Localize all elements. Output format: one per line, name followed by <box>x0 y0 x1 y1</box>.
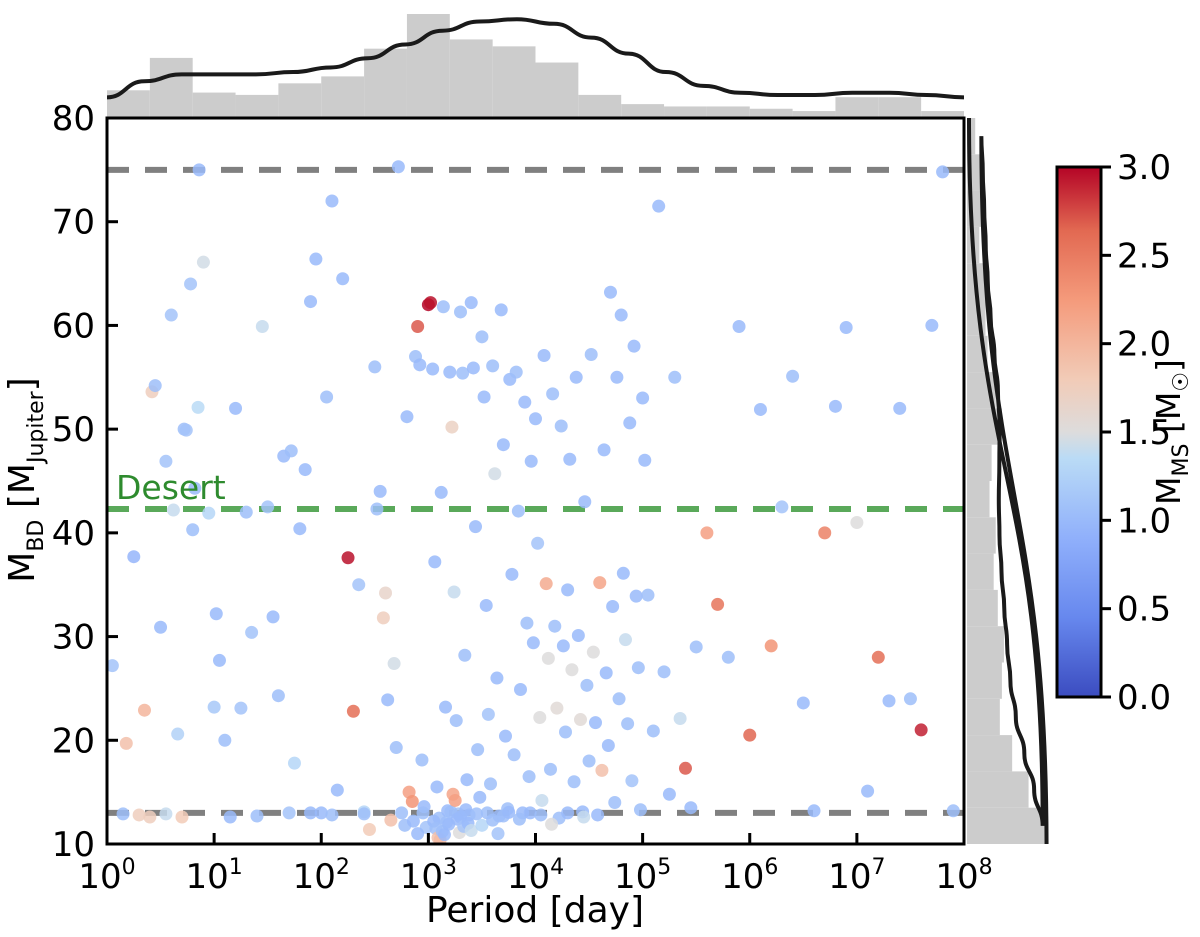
scatter-point <box>514 683 527 696</box>
y-tick-label: 50 <box>52 410 95 450</box>
colorbar-label: MMS [M☉] <box>1149 359 1194 505</box>
scatter-point <box>936 165 949 178</box>
top-hist-bars <box>107 14 964 118</box>
scatter-point <box>508 748 521 761</box>
scatter-point <box>245 626 258 639</box>
scatter-point <box>379 587 392 600</box>
scatter-point <box>377 611 390 624</box>
top-marginal-histogram <box>107 14 964 118</box>
scatter-point <box>722 651 735 664</box>
scatter-point <box>630 590 643 603</box>
right-hist-bar <box>967 663 1002 699</box>
scatter-point <box>495 303 508 316</box>
x-tick-label: 106 <box>721 855 778 897</box>
scatter-point <box>117 807 130 820</box>
scatter-point <box>548 620 561 633</box>
scatter-point <box>435 486 448 499</box>
scatter-point <box>460 773 473 786</box>
scatter-point <box>533 711 546 724</box>
scatter-point <box>625 774 638 787</box>
top-hist-bar <box>835 97 878 118</box>
scatter-point <box>711 598 724 611</box>
cb-label-open: [M <box>1149 392 1188 444</box>
scatter-point <box>510 366 523 379</box>
scatter-point <box>557 639 570 652</box>
y-label-unit-sub: Jupiter <box>24 390 49 465</box>
scatter-point <box>165 309 178 322</box>
y-label-open: [M <box>2 463 43 520</box>
scatter-point <box>482 708 495 721</box>
y-tick-label: 60 <box>52 306 95 346</box>
top-hist-bar <box>107 90 150 118</box>
x-tick-label: 102 <box>293 855 350 897</box>
scatter-point <box>568 775 581 788</box>
colorbar-tick-label: 0.0 <box>1117 678 1171 718</box>
scatter-point <box>598 443 611 456</box>
scatter-point <box>574 713 587 726</box>
scatter-point <box>540 577 553 590</box>
scatter-point <box>883 694 896 707</box>
scatter-point <box>775 500 788 513</box>
top-hist-bar <box>278 83 321 118</box>
right-hist-bar <box>967 517 996 553</box>
scatter-point <box>437 300 450 313</box>
scatter-point <box>555 420 568 433</box>
scatter-point <box>572 629 585 642</box>
scatter-point <box>700 526 713 539</box>
scatter-point <box>733 320 746 333</box>
scatter-point <box>492 827 505 840</box>
scatter-point <box>546 387 559 400</box>
scatter-point <box>299 463 312 476</box>
top-hist-bar <box>621 104 664 118</box>
scatter-point <box>518 396 531 409</box>
y-tick-label: 30 <box>52 618 95 658</box>
colorbar-tick-label: 3.0 <box>1117 148 1171 188</box>
right-marginal-histogram <box>967 118 1047 850</box>
colorbar-tick-label: 1.0 <box>1117 501 1171 541</box>
top-hist-bar <box>450 39 493 118</box>
scatter-point <box>502 806 515 819</box>
scatter-point <box>531 537 544 550</box>
scatter-point <box>234 702 247 715</box>
y-label-close: ] <box>2 377 43 391</box>
scatter-point <box>583 755 596 768</box>
scatter-point <box>565 663 578 676</box>
x-tick-label: 107 <box>828 855 885 897</box>
scatter-point <box>623 416 636 429</box>
scatter-point <box>585 348 598 361</box>
scatter-point <box>925 319 938 332</box>
scatter-point <box>570 371 583 384</box>
scatter-point <box>138 704 151 717</box>
colorbar-tick-label: 2.0 <box>1117 325 1171 365</box>
scatter-point <box>267 610 280 623</box>
scatter-point <box>604 286 617 299</box>
scatter-point <box>636 392 649 405</box>
scatter-point <box>559 725 572 738</box>
scatter-point <box>534 808 547 821</box>
scatter-point <box>250 810 263 823</box>
scatter-point <box>256 320 269 333</box>
scatter-point <box>175 811 188 824</box>
cb-label-sub: MS <box>1169 444 1194 477</box>
scatter-point <box>608 796 621 809</box>
scatter-point <box>218 734 231 747</box>
scatter-point <box>229 402 242 415</box>
scatter-point <box>578 495 591 508</box>
scatter-point <box>587 646 600 659</box>
scatter-point <box>469 520 482 533</box>
right-hist-bar <box>967 554 994 590</box>
right-hist-bar <box>967 735 1012 771</box>
scatter-point <box>840 321 853 334</box>
colorbar-tick-label: 2.5 <box>1117 236 1171 276</box>
scatter-point <box>395 806 408 819</box>
scatter-point <box>658 665 671 678</box>
right-hist-bar <box>967 590 998 626</box>
scatter-point <box>850 516 863 529</box>
scatter-point <box>415 753 428 766</box>
scatter-point <box>505 568 518 581</box>
scatter-point <box>370 503 383 516</box>
scatter-point <box>591 808 604 821</box>
scatter-point <box>120 737 133 750</box>
scatter-point <box>309 253 322 266</box>
scatter-point <box>368 360 381 373</box>
scatter-point <box>589 716 602 729</box>
scatter-point <box>304 295 317 308</box>
x-tick-label: 108 <box>935 855 992 897</box>
scatter-point <box>454 305 467 318</box>
plot-background <box>107 118 964 844</box>
scatter-point <box>610 371 623 384</box>
svg-text:MBD [MJupiter]: MBD [MJupiter] <box>2 377 49 582</box>
scatter-point <box>674 712 687 725</box>
top-hist-bar <box>493 46 536 118</box>
scatter-point <box>478 390 491 403</box>
scatter-point <box>149 379 162 392</box>
scatter-point <box>593 576 606 589</box>
scatter-point <box>471 743 484 756</box>
scatter-point <box>347 705 360 718</box>
scatter-point <box>406 795 419 808</box>
scatter-point <box>342 551 355 564</box>
scatter-point <box>829 400 842 413</box>
top-hist-bar <box>236 95 279 118</box>
scatter-point <box>484 777 497 790</box>
scatter-point <box>652 200 665 213</box>
x-axis-label: Period [day] <box>426 890 644 931</box>
scatter-point <box>193 163 206 176</box>
scatter-point <box>743 729 756 742</box>
scatter-point <box>448 585 461 598</box>
scatter-point <box>443 366 456 379</box>
scatter-point <box>285 444 298 457</box>
scatter-point <box>363 823 376 836</box>
scatter-point <box>893 402 906 415</box>
scatter-point <box>632 661 645 674</box>
scatter-point <box>325 808 338 821</box>
scatter-point <box>197 256 210 269</box>
scatter-point <box>550 702 563 715</box>
scatter-point <box>684 801 697 814</box>
scatter-point <box>872 651 885 664</box>
scatter-point <box>331 784 344 797</box>
scatter-point <box>512 505 525 518</box>
y-tick-label: 40 <box>52 514 95 554</box>
scatter-point <box>797 696 810 709</box>
scatter-point <box>445 421 458 434</box>
y-tick-label: 80 <box>52 99 95 139</box>
scatter-point <box>524 806 537 819</box>
scatter-point <box>765 639 778 652</box>
scatter-point <box>384 814 397 827</box>
colorbar-tick-label: 0.5 <box>1117 590 1171 630</box>
x-axis-ticks: 100101102103104105106107108 <box>78 833 992 897</box>
scatter-point <box>171 728 184 741</box>
scatter-point <box>754 403 767 416</box>
colorbar-gradient[interactable] <box>1057 167 1101 697</box>
top-hist-bar <box>193 93 236 118</box>
scatter-point <box>563 453 576 466</box>
scatter-point <box>488 467 501 480</box>
scatter-point <box>184 277 197 290</box>
scatter-point <box>915 723 928 736</box>
scatter-point <box>525 455 538 468</box>
top-hist-bar <box>536 63 579 118</box>
scatter-point <box>545 818 558 831</box>
scatter-point <box>600 666 613 679</box>
scatter-point <box>450 714 463 727</box>
scatter-point <box>542 652 555 665</box>
scatter-point <box>663 788 676 801</box>
scatter-point <box>538 349 551 362</box>
scatter-point <box>428 555 441 568</box>
y-tick-label: 10 <box>52 825 95 865</box>
scatter-point <box>473 791 486 804</box>
scatter-point <box>621 717 634 730</box>
scatter-point <box>486 359 499 372</box>
desert-annotation-label: Desert <box>116 468 226 507</box>
scatter-point <box>613 692 626 705</box>
scatter-point <box>439 701 452 714</box>
scatter-point <box>668 371 681 384</box>
scatter-point <box>325 194 338 207</box>
scatter-point <box>679 762 692 775</box>
figure-canvas: Desert 100101102103104105106107108 10203… <box>0 0 1200 937</box>
scatter-point <box>352 578 365 591</box>
scatter-point <box>374 485 387 498</box>
scatter-point <box>577 811 590 824</box>
scatter-point <box>520 617 533 630</box>
cb-label-close: ] <box>1149 359 1188 372</box>
scatter-point <box>154 621 167 634</box>
top-hist-bar <box>878 97 921 118</box>
scatter-point <box>208 701 221 714</box>
scatter-point <box>192 401 205 414</box>
right-hist-bar <box>967 481 990 517</box>
cb-label-unit-sub: ☉ <box>1169 372 1194 392</box>
scatter-point <box>336 272 349 285</box>
scatter-point <box>159 455 172 468</box>
scatter-point <box>202 507 215 520</box>
scatter-point <box>641 589 654 602</box>
y-axis-label: MBD [MJupiter] <box>2 377 49 582</box>
scatter-point <box>127 550 140 563</box>
scatter-point <box>240 506 253 519</box>
scatter-point <box>480 599 493 612</box>
scatter-point <box>417 806 430 819</box>
scatter-point <box>358 807 371 820</box>
scatter-point <box>808 804 821 817</box>
scatter-point <box>224 811 237 824</box>
scatter-point <box>638 454 651 467</box>
scatter-point <box>904 692 917 705</box>
y-tick-label: 20 <box>52 721 95 761</box>
y-tick-label: 70 <box>52 203 95 243</box>
scatter-point <box>213 654 226 667</box>
scatter-point <box>320 390 333 403</box>
scatter-point <box>392 160 405 173</box>
scatter-point <box>527 636 540 649</box>
scatter-point <box>786 370 799 383</box>
top-hist-bar <box>578 95 621 118</box>
right-hist-bar <box>967 445 992 481</box>
scatter-point <box>580 679 593 692</box>
scatter-point <box>606 600 619 613</box>
scatter-point <box>411 320 424 333</box>
scatter-point <box>430 780 443 793</box>
top-hist-bar <box>321 76 364 118</box>
scatter-point <box>467 361 480 374</box>
scatter-point <box>615 309 628 322</box>
scatter-point <box>424 296 437 309</box>
scatter-point <box>475 330 488 343</box>
scatter-point <box>490 672 503 685</box>
scatter-point <box>947 804 960 817</box>
scatter-point <box>411 827 424 840</box>
top-hist-bar <box>664 106 707 118</box>
scatter-point <box>544 763 557 776</box>
right-hist-bar <box>967 771 1029 807</box>
right-hist-bar <box>967 699 1000 735</box>
scatter-point <box>180 424 193 437</box>
top-hist-bar <box>150 58 193 118</box>
scatter-point <box>261 500 274 513</box>
main-scatter-panel: Desert 100101102103104105106107108 10203… <box>52 99 993 897</box>
scatter-point <box>388 657 401 670</box>
scatter-point <box>617 567 630 580</box>
scatter-point <box>465 296 478 309</box>
scatter-point <box>288 757 301 770</box>
svg-text:MMS [M☉]: MMS [M☉] <box>1149 359 1194 505</box>
scatter-point <box>497 438 510 451</box>
scatter-point <box>400 410 413 423</box>
y-label-sub: BD <box>24 520 49 552</box>
scatter-point <box>426 362 439 375</box>
y-label-m: M <box>2 552 43 583</box>
scatter-point <box>293 522 306 535</box>
scatter-point <box>449 794 462 807</box>
scatter-point <box>210 607 223 620</box>
scatter-point <box>647 724 660 737</box>
scatter-point <box>602 739 615 752</box>
scatter-point <box>861 785 874 798</box>
scatter-point <box>304 806 317 819</box>
scatter-point <box>818 526 831 539</box>
scatter-point <box>283 806 296 819</box>
scatter-point <box>634 803 647 816</box>
scatter-point <box>595 764 608 777</box>
scatter-point <box>628 340 641 353</box>
scatter-point <box>272 689 285 702</box>
right-hist-bar <box>967 808 1045 844</box>
scatter-point <box>381 693 394 706</box>
top-hist-bar <box>707 106 750 118</box>
scatter-point <box>390 741 403 754</box>
scatter-point <box>413 358 426 371</box>
scatter-point <box>619 633 632 646</box>
scatter-point <box>143 811 156 824</box>
cb-label-m: M <box>1149 476 1188 504</box>
scatter-point <box>458 649 471 662</box>
scatter-point <box>535 794 548 807</box>
scatter-point <box>561 583 574 596</box>
scatter-point <box>690 640 703 653</box>
scatter-point <box>523 770 536 783</box>
x-tick-label: 101 <box>185 855 242 897</box>
scatter-point <box>186 523 199 536</box>
scatter-point <box>499 730 512 743</box>
scatter-point <box>159 807 172 820</box>
scatter-point <box>529 412 542 425</box>
scatter-point <box>561 806 574 819</box>
right-hist-bar <box>967 626 1004 662</box>
